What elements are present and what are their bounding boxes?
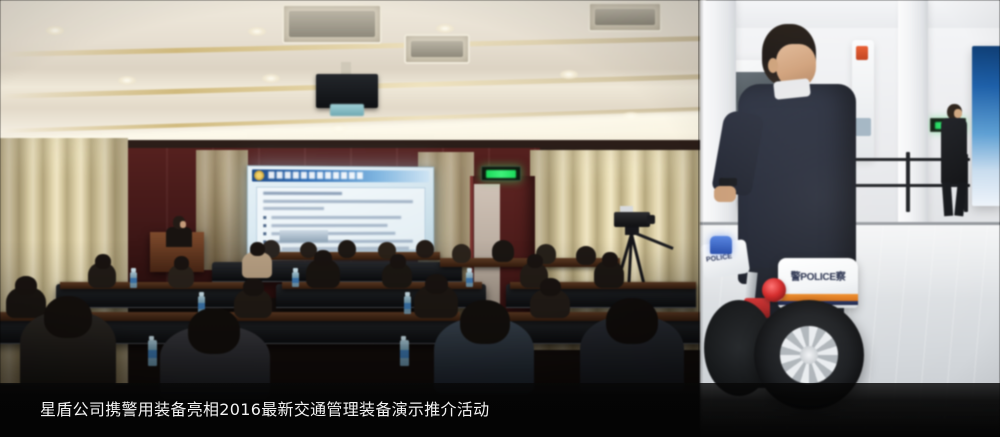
downlight (46, 26, 64, 35)
caption-bar: 星盾公司携警用装备亮相2016最新交通管理装备演示推介活动 (0, 383, 1000, 437)
slide-text-line (263, 207, 324, 210)
downlight (118, 76, 136, 85)
audience-head (527, 254, 543, 268)
air-vent (282, 4, 382, 44)
bottle-label (400, 350, 409, 358)
audience-head (15, 276, 37, 295)
rider-watch (719, 178, 737, 186)
slide-text-line (263, 200, 413, 203)
downlight (560, 70, 578, 79)
downlight (262, 74, 280, 83)
slide-image (280, 230, 328, 242)
kiosk-screen (855, 118, 871, 136)
audience-person (338, 240, 356, 258)
rider-collar (773, 78, 811, 100)
foreground-person-head (460, 300, 510, 344)
composite-photo-figure: POLICE 警POLICE察 星盾公司携警用装备亮相2016最新交通管理装备演… (0, 0, 1000, 437)
slide-text-line (271, 224, 387, 227)
slide-bullet (263, 216, 266, 219)
exit-sign-glow (486, 170, 516, 178)
segway-taillight (762, 278, 786, 302)
air-vent (588, 2, 662, 32)
audience-head (250, 242, 265, 256)
ceiling (0, 0, 706, 150)
audience-head (174, 256, 189, 270)
air-vent-grille (595, 9, 655, 25)
water-bottle (400, 340, 409, 366)
slide-emblem-icon (254, 170, 264, 180)
background-person-body (941, 118, 967, 184)
audience-person (416, 240, 434, 258)
slide-text-line (263, 192, 342, 195)
audience-head (540, 278, 561, 296)
slide-bullet (263, 232, 266, 235)
camera-viewfinder (620, 206, 633, 212)
slide-text-line (271, 216, 401, 219)
camera-lens (647, 215, 655, 224)
audience-head (243, 278, 264, 296)
kiosk-badge-icon (856, 46, 868, 60)
showroom-segway-photo: POLICE 警POLICE察 (700, 0, 1000, 437)
barrier-rail (850, 184, 970, 187)
audience-head (425, 274, 448, 294)
foreground-person-head (188, 308, 240, 354)
water-bottle (466, 272, 473, 287)
slide-title-text (268, 171, 364, 179)
air-vent-grille (411, 41, 463, 57)
exit-sign-icon (481, 166, 521, 181)
slide-bullet (263, 224, 266, 227)
projector-lens (330, 104, 364, 116)
speaker-face (180, 221, 186, 228)
bottle-label (466, 278, 473, 283)
downlight (248, 27, 266, 36)
water-bottle (292, 272, 299, 287)
bottle-label (198, 303, 205, 308)
bottle-label (292, 278, 299, 283)
water-bottle (130, 272, 137, 288)
bottle-label (404, 303, 411, 308)
caption-text: 星盾公司携警用装备亮相2016最新交通管理装备演示推介活动 (40, 400, 489, 419)
bottle-label (148, 350, 157, 358)
foreground-person-head (606, 298, 658, 344)
air-vent-grille (289, 11, 375, 37)
segway-police-marking: 警POLICE察 (780, 272, 856, 283)
background-person-face (954, 109, 962, 118)
downlight (436, 24, 454, 33)
audience-head (390, 254, 406, 269)
water-bottle (148, 340, 157, 366)
rollup-banner (972, 46, 1000, 206)
conference-room-photo (0, 0, 706, 437)
audience-head (602, 252, 618, 267)
bottle-label (130, 278, 137, 283)
audience-head (314, 250, 332, 266)
rider-ear (768, 58, 778, 73)
water-bottle (404, 296, 411, 314)
audience-person (576, 246, 596, 265)
air-vent (404, 34, 470, 64)
barrier-post (906, 152, 910, 212)
ceiling-projector (316, 74, 378, 108)
audience-person (492, 240, 514, 262)
segway-wheel-hub (800, 346, 818, 364)
audience-head (95, 254, 111, 269)
rider-hand (714, 186, 736, 202)
audience-person (452, 244, 471, 263)
speaker-body (166, 227, 192, 247)
video-camera (614, 212, 650, 227)
segway-beacon-light (710, 236, 732, 254)
foreground-person-head (44, 296, 92, 338)
